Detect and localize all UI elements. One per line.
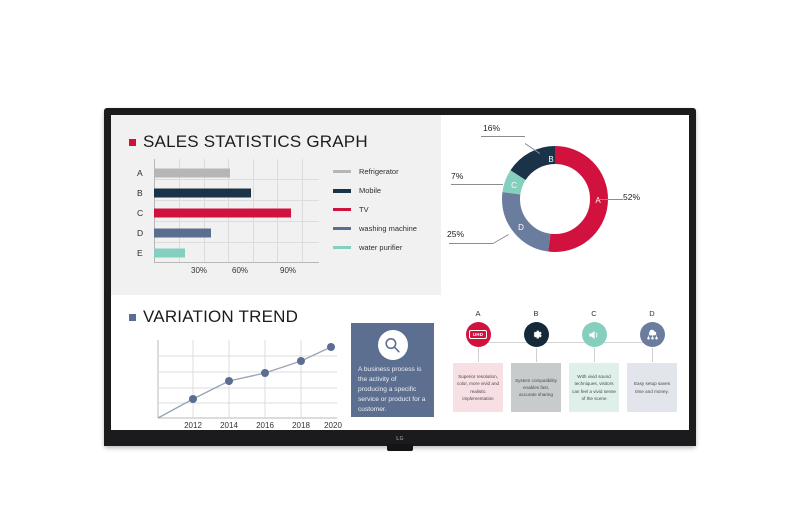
gear-icon (524, 322, 549, 347)
bar-fill-e (154, 249, 185, 258)
donut-value-c: 7% (451, 171, 463, 181)
donut-value-b: 16% (483, 123, 500, 133)
speaker-icon (582, 322, 607, 347)
legend-item: water purifier (333, 238, 433, 257)
feature-letter: A (475, 309, 480, 318)
donut-chart-panel: A B C D 52% 16% 7% 25% (441, 115, 689, 295)
network-cloud-icon (640, 322, 665, 347)
legend-label: Mobile (359, 186, 381, 195)
feature-letter: B (533, 309, 538, 318)
x-tick-label: 2014 (220, 421, 238, 430)
x-tick-label: 2016 (256, 421, 274, 430)
callout-line-c (451, 184, 503, 185)
bar-fill-d (154, 229, 211, 238)
line-chart (157, 340, 337, 420)
tv-screen: SALES STATISTICS GRAPH A (111, 115, 689, 430)
uhd-badge-label: UHD (469, 330, 486, 339)
legend-label: TV (359, 205, 369, 214)
legend-swatch-icon (333, 227, 351, 230)
legend-swatch-icon (333, 189, 351, 193)
sales-section-title: SALES STATISTICS GRAPH (143, 132, 368, 152)
x-tick-label: 2018 (292, 421, 310, 430)
legend-label: washing machine (359, 224, 417, 233)
tv-stand-foot (387, 444, 413, 451)
sales-section-heading: SALES STATISTICS GRAPH (129, 132, 368, 152)
donut-value-d: 25% (447, 229, 464, 239)
variation-section-title: VARIATION TREND (143, 307, 298, 327)
bar-chart: A B C D E (137, 163, 319, 267)
feature-stem (652, 348, 653, 362)
feature-stem (594, 348, 595, 362)
bar-category-label: C (137, 208, 154, 218)
callout-line-d (449, 243, 493, 244)
info-callout-text: A business process is the activity of pr… (358, 365, 427, 414)
bar-row: D (137, 223, 319, 243)
feature-card: Superior resolution, color, more vivid a… (453, 363, 503, 412)
bar-category-label: A (137, 168, 154, 178)
bar-category-label: D (137, 228, 154, 238)
bar-chart-x-axis: 30% 60% 90% (154, 266, 319, 280)
feature-strip: A UHD Superior resolution, color, more v… (453, 309, 677, 421)
x-tick-label: 60% (232, 266, 248, 275)
feature-connector-line (478, 342, 652, 343)
features-panel: A UHD Superior resolution, color, more v… (441, 295, 689, 430)
donut-segment-label-b: B (548, 155, 553, 164)
magnifier-icon (378, 330, 408, 360)
bar-row: A (137, 163, 319, 183)
legend-label: water purifier (359, 243, 402, 252)
x-tick-label: 2020 (324, 421, 342, 430)
legend-item: washing machine (333, 219, 433, 238)
bar-fill-a (154, 169, 230, 178)
bar-chart-legend: Refrigerator Mobile TV washing machine w… (333, 162, 433, 257)
bar-category-label: B (137, 188, 154, 198)
bar-row: E (137, 243, 319, 263)
sales-statistics-panel: SALES STATISTICS GRAPH A (111, 115, 441, 295)
bar-row: C (137, 203, 319, 223)
x-tick-label: 2012 (184, 421, 202, 430)
line-chart-x-axis: 2012 2014 2016 2018 2020 (157, 421, 337, 430)
feature-stem (536, 348, 537, 362)
donut-segment-label-d: D (518, 223, 524, 232)
legend-swatch-icon (333, 246, 351, 249)
feature-letter: C (591, 309, 596, 318)
tv-display-frame: SALES STATISTICS GRAPH A (104, 108, 696, 446)
legend-swatch-icon (333, 208, 351, 211)
feature-card-text: Superior resolution, color, more vivid a… (456, 373, 500, 401)
info-callout-box: A business process is the activity of pr… (351, 323, 434, 417)
feature-stem (478, 348, 479, 362)
legend-item: Refrigerator (333, 162, 433, 181)
variation-trend-panel: VARIATION TREND 20 (111, 295, 441, 430)
feature-card-text: Easy setup saves time and money. (630, 380, 674, 394)
feature-card-text: With vivid sound techniques, visitors ca… (572, 373, 616, 401)
uhd-badge-icon: UHD (466, 322, 491, 347)
lg-logo: LG (396, 436, 404, 442)
donut-value-a: 52% (623, 192, 640, 202)
callout-line-b (481, 136, 525, 137)
variation-section-heading: VARIATION TREND (129, 307, 298, 327)
bar-category-label: E (137, 248, 154, 258)
legend-item: TV (333, 200, 433, 219)
feature-item-c[interactable]: C With vivid sound techniques, visitors … (569, 309, 619, 412)
bar-row: B (137, 183, 319, 203)
feature-card: System compatibility enables fast, accur… (511, 363, 561, 412)
feature-card: Easy setup saves time and money. (627, 363, 677, 412)
feature-letter: D (649, 309, 654, 318)
bar-fill-c (154, 209, 291, 218)
feature-item-a[interactable]: A UHD Superior resolution, color, more v… (453, 309, 503, 412)
legend-swatch-icon (333, 170, 351, 173)
donut-segment-label-a: A (595, 196, 601, 205)
feature-card-text: System compatibility enables fast, accur… (514, 377, 558, 398)
feature-item-b[interactable]: B System compatibility enables fast, acc… (511, 309, 561, 412)
legend-label: Refrigerator (359, 167, 399, 176)
feature-card: With vivid sound techniques, visitors ca… (569, 363, 619, 412)
x-tick-label: 30% (191, 266, 207, 275)
donut-segment-label-c: C (511, 181, 517, 190)
bar-fill-b (154, 189, 251, 198)
feature-item-d[interactable]: D Easy setup (627, 309, 677, 412)
legend-item: Mobile (333, 181, 433, 200)
callout-line-a (599, 199, 623, 200)
square-bullet-icon (129, 314, 136, 321)
square-bullet-icon (129, 139, 136, 146)
donut-chart: A B C D 52% 16% 7% 25% (493, 137, 617, 261)
x-tick-label: 90% (280, 266, 296, 275)
